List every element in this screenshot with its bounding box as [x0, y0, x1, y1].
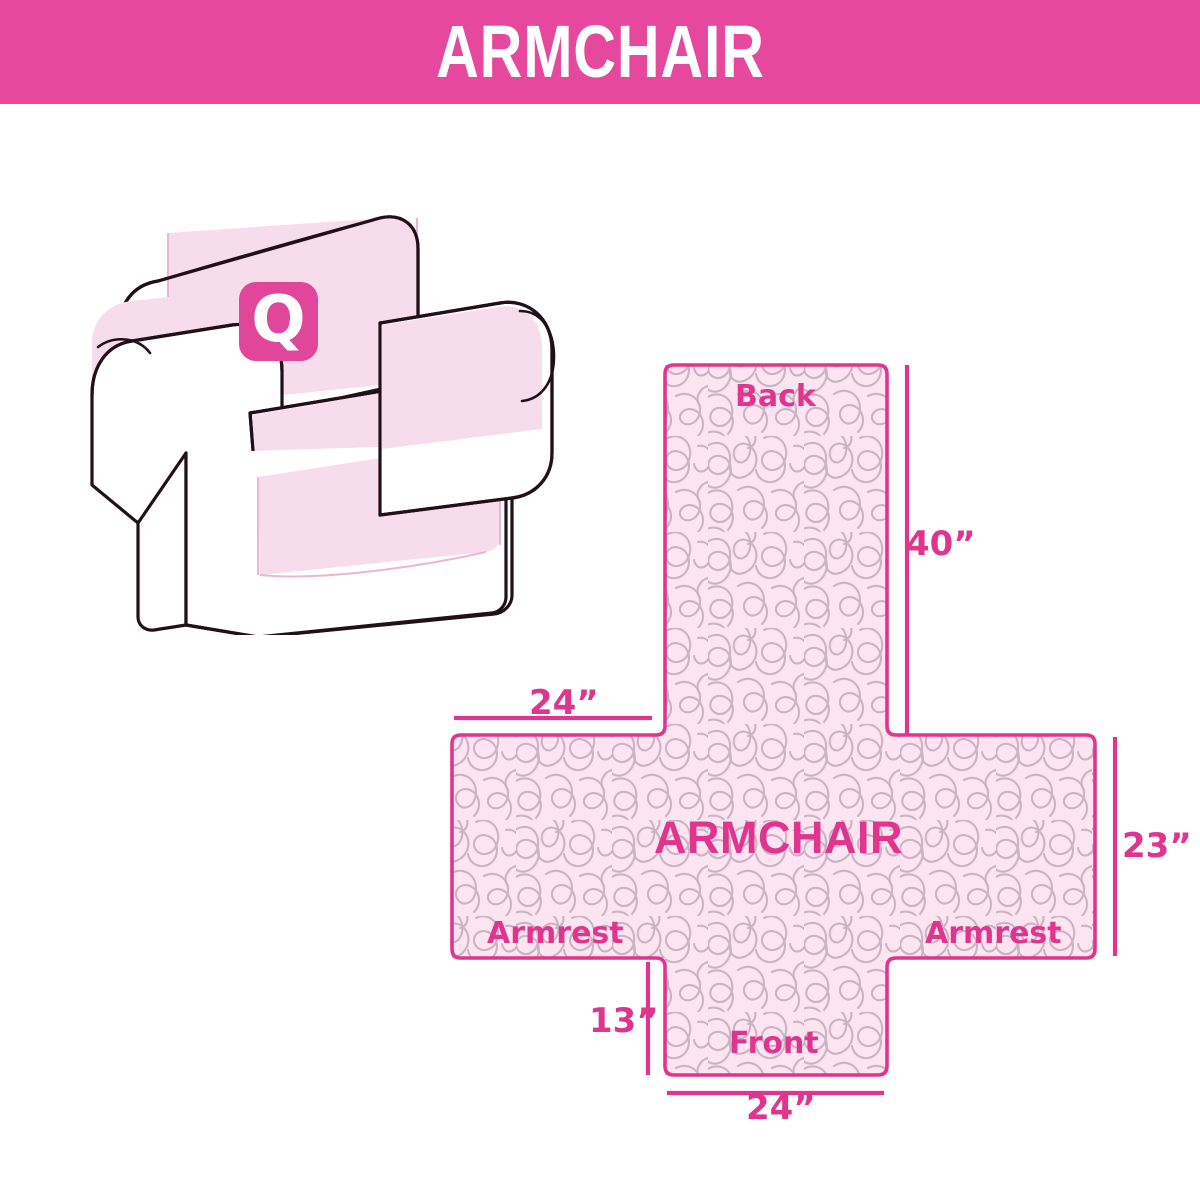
brand-logo-letter: Q	[251, 288, 305, 352]
dimension-label-front-width: 24”	[746, 1091, 816, 1125]
panel-label-armrest-right: Armrest	[925, 919, 1062, 949]
panel-label-armrest-left: Armrest	[487, 919, 624, 949]
dimension-label-back-height: 40”	[906, 527, 976, 561]
brand-logo-badge: Q	[239, 282, 318, 361]
panel-label-back: Back	[735, 382, 816, 412]
diagram-center-label: ARMCHAIR	[654, 815, 903, 860]
panel-label-front: Front	[729, 1029, 819, 1059]
page-title: ARMCHAIR	[436, 15, 765, 89]
dimension-label-seat-depth: 23”	[1122, 829, 1192, 863]
page-root: ARMCHAIR .ol { fill:none; stroke:#221019…	[0, 0, 1200, 1200]
dimension-label-armrest-width: 24”	[529, 686, 599, 720]
header-banner: ARMCHAIR	[0, 0, 1200, 104]
dimension-label-front-drop: 13”	[589, 1004, 659, 1038]
